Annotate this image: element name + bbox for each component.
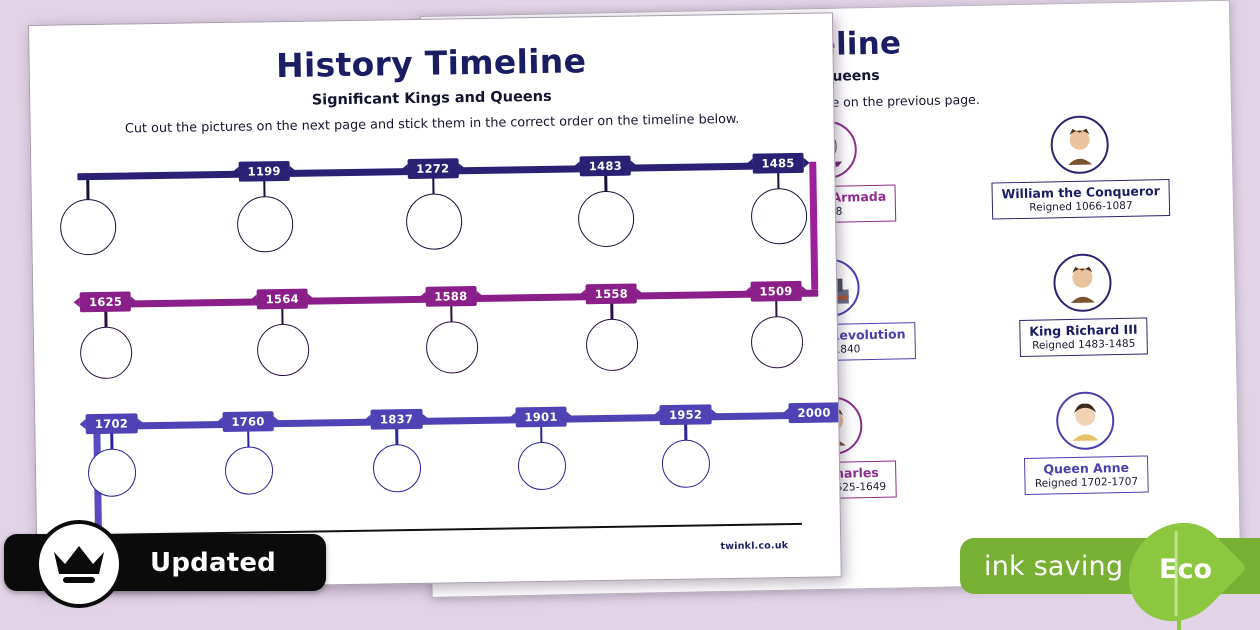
timeline-marker: 1272 bbox=[433, 154, 435, 264]
timeline-marker: 1760 bbox=[248, 407, 250, 517]
timeline-marker: 1588 bbox=[451, 281, 453, 391]
card-name: William the Conqueror bbox=[1001, 183, 1160, 201]
leaf-stem bbox=[1177, 620, 1181, 630]
page-title: History Timeline bbox=[29, 37, 833, 89]
timeline-marker: 1901 bbox=[541, 402, 543, 512]
picture-slot[interactable] bbox=[662, 439, 711, 488]
front-page: History Timeline Significant Kings and Q… bbox=[28, 12, 842, 590]
date-badge: 1702 bbox=[86, 413, 138, 433]
page-instruction: Cut out the pictures on the next page an… bbox=[31, 110, 834, 138]
timeline-marker: 1483 bbox=[605, 151, 607, 261]
picture-slot[interactable] bbox=[578, 191, 635, 248]
timeline-marker: 1558 bbox=[611, 279, 613, 389]
date-badge: 1199 bbox=[238, 161, 290, 181]
king-portrait-icon bbox=[1053, 253, 1112, 312]
card-label: Queen AnneReigned 1702-1707 bbox=[1024, 455, 1149, 494]
timeline-row-1: 1199127214831485 bbox=[31, 147, 836, 270]
timeline-marker: 1952 bbox=[685, 400, 687, 510]
picture-slot[interactable] bbox=[586, 318, 639, 371]
page-subtitle: Significant Kings and Queens bbox=[30, 84, 833, 113]
picture-slot[interactable] bbox=[257, 324, 310, 377]
connector-row1-to-row2 bbox=[809, 162, 818, 290]
picture-slot[interactable] bbox=[425, 321, 478, 374]
date-badge: 1952 bbox=[660, 404, 712, 424]
timeline-row-3: 170217601837190119522000 bbox=[35, 397, 840, 520]
date-badge: 1588 bbox=[425, 286, 477, 306]
picture-slot[interactable] bbox=[80, 326, 133, 379]
date-badge: 1901 bbox=[515, 407, 567, 427]
queen-portrait-icon bbox=[1056, 391, 1115, 450]
marker-stem bbox=[86, 180, 89, 200]
card-label: William the ConquerorReigned 1066-1087 bbox=[991, 179, 1170, 220]
front-page-content: History Timeline Significant Kings and Q… bbox=[29, 13, 841, 589]
eco-label: ink saving bbox=[984, 551, 1123, 582]
cut-out-card[interactable]: Queen AnneReigned 1702-1707 bbox=[1000, 390, 1172, 495]
updated-label: Updated bbox=[150, 548, 276, 578]
date-badge: 1485 bbox=[752, 153, 804, 173]
card-years: Reigned 1702-1707 bbox=[1034, 476, 1138, 490]
date-badge: 1272 bbox=[407, 158, 459, 178]
timeline-marker: 1702 bbox=[111, 409, 113, 519]
card-years: Reigned 1483-1485 bbox=[1029, 338, 1137, 352]
date-badge: 1564 bbox=[256, 289, 308, 309]
timeline-marker: 1199 bbox=[264, 156, 266, 266]
card-name: Queen Anne bbox=[1034, 460, 1138, 477]
picture-slot[interactable] bbox=[88, 448, 137, 497]
picture-slot[interactable] bbox=[517, 442, 566, 491]
picture-slot[interactable] bbox=[373, 444, 422, 493]
card-name: King Richard III bbox=[1029, 322, 1138, 339]
timeline-marker: 1485 bbox=[778, 148, 780, 258]
card-label: King Richard IIIReigned 1483-1485 bbox=[1019, 317, 1148, 357]
footer-brand: twinkl.co.uk bbox=[720, 540, 788, 552]
crown-icon bbox=[35, 520, 123, 608]
date-badge: 1760 bbox=[222, 411, 274, 431]
date-badge: 1625 bbox=[80, 291, 132, 311]
timeline-marker: 1564 bbox=[282, 284, 284, 394]
date-badge: 1837 bbox=[371, 409, 423, 429]
date-badge: 1483 bbox=[580, 156, 632, 176]
date-badge: 2000 bbox=[788, 402, 840, 422]
card-years: Reigned 1066-1087 bbox=[1002, 199, 1161, 214]
picture-slot[interactable] bbox=[60, 199, 117, 256]
eco-word: Eco bbox=[1159, 554, 1212, 585]
cut-out-card[interactable]: King Richard IIIReigned 1483-1485 bbox=[997, 252, 1169, 357]
timeline-marker: 1509 bbox=[776, 276, 778, 386]
timeline-marker: 2000 bbox=[814, 398, 816, 508]
timeline-row-2: 16251564158815581509 bbox=[33, 275, 838, 398]
timeline-marker: 1837 bbox=[396, 404, 398, 514]
picture-slot[interactable] bbox=[405, 193, 462, 250]
picture-slot[interactable] bbox=[750, 316, 803, 369]
date-badge: 1509 bbox=[750, 281, 802, 301]
picture-slot[interactable] bbox=[237, 196, 294, 253]
picture-slot[interactable] bbox=[224, 446, 273, 495]
screenshot-stage: Timeline s and Queens rrect order on the… bbox=[0, 0, 1260, 630]
date-badge: 1558 bbox=[586, 283, 638, 303]
cut-out-card[interactable]: William the ConquerorReigned 1066-1087 bbox=[994, 114, 1166, 219]
king-portrait-icon bbox=[1050, 115, 1109, 174]
picture-slot[interactable] bbox=[750, 188, 807, 245]
timeline-marker: 1625 bbox=[105, 287, 107, 397]
timeline-area: 1199127214831485 16251564158815581509 17… bbox=[31, 147, 839, 510]
